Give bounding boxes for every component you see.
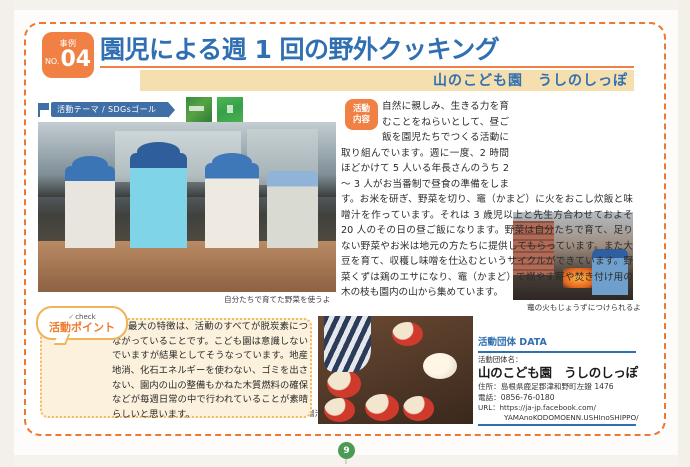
theme-tag-row: 活動テーマ / SDGsゴール	[38, 102, 243, 117]
page-number-badge: 9	[338, 442, 355, 459]
data-box-title: 活動団体 DATA	[478, 338, 636, 348]
brochure-page: 事例 NO.04 園児による週 1 回の野外クッキング 山のこども園 うしのしっ…	[0, 0, 690, 467]
activity-content-text-wrapper: 自然に親しみ、生きる力を育むことをねらいとして、昼ご飯を園児たちでつくる活動に取…	[341, 99, 633, 301]
data-org-name: 山のこども園 うしのしっぽ	[478, 365, 636, 381]
data-address: 住所：島根県鹿足郡津和野町左鐙 1476	[478, 381, 636, 392]
activity-point-text: 最大の特徴は、活動のすべてが脱炭素につながっていることです。こども園は意識しない…	[112, 321, 308, 420]
photo-miso-soup-meal	[318, 316, 473, 424]
data-divider-top	[478, 351, 636, 353]
data-divider-bottom	[478, 424, 636, 426]
sdg-goal-icon-1	[186, 97, 212, 123]
caption-right-photo: 竈の火もじょうずにつけられるよ	[527, 302, 641, 313]
check-label: check	[75, 313, 96, 321]
main-photo-children-cooking	[38, 122, 336, 292]
activity-point-text-wrapper: 最大の特徴は、活動のすべてが脱炭素につながっていることです。こども園は意識しない…	[112, 320, 308, 423]
page-title: 園児による週 1 回の野外クッキング	[100, 30, 620, 66]
flag-icon	[38, 103, 49, 117]
activity-point-title: 活動ポイント	[49, 322, 115, 333]
check-tick-icon: ✓	[68, 313, 74, 321]
case-number-prefix: NO.	[45, 57, 60, 66]
title-divider	[100, 66, 634, 68]
organization-subtitle: 山のこども園 うしのしっぽ	[140, 71, 628, 91]
data-org-label: 活動団体名：	[478, 356, 636, 365]
case-number-value: 04	[60, 47, 91, 72]
caption-main-photo: 自分たちで育てた野菜を使うよ	[224, 294, 330, 305]
data-url[interactable]: URL：https://ja-jp.facebook.com/ YAMAnoKO…	[478, 403, 636, 422]
data-url-line2: YAMAnoKODOMOENN.USHInoSHIPPO/	[478, 413, 636, 423]
sdg-goal-icon-2	[217, 97, 243, 123]
data-phone: 電話：0856-76-0180	[478, 392, 636, 403]
sdg-icon-group	[186, 97, 243, 123]
check-point-bubble: ✓check 活動ポイント	[36, 306, 128, 340]
case-number-badge: 事例 NO.04	[42, 32, 94, 78]
check-label-row: ✓check	[68, 314, 95, 321]
case-number: NO.04	[45, 49, 91, 71]
data-url-line1: URL：https://ja-jp.facebook.com/	[478, 403, 596, 412]
organization-data-box: 活動団体 DATA 活動団体名： 山のこども園 うしのしっぽ 住所：島根県鹿足郡…	[478, 338, 636, 426]
theme-tag-label: 活動テーマ / SDGsゴール	[51, 102, 168, 117]
